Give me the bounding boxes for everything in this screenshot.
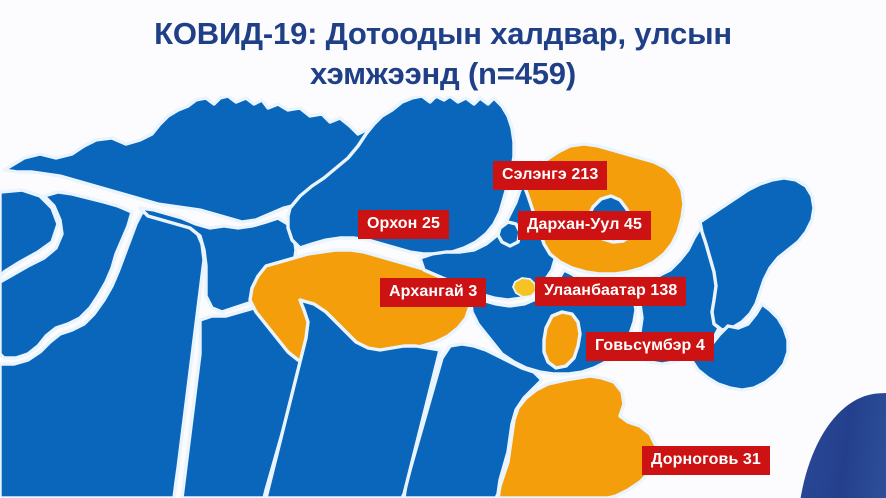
page-title: КОВИД-19: Дотоодын халдвар, улсын хэмжээ… bbox=[0, 14, 886, 94]
map-label-selenge: Сэлэнгэ 213 bbox=[493, 161, 607, 190]
map-label-arkhangai: Архангай 3 bbox=[380, 278, 486, 307]
province-ulaanbaatar bbox=[513, 278, 536, 297]
map-label-dornogovi: Дорноговь 31 bbox=[642, 446, 770, 475]
province-dornod bbox=[700, 178, 814, 330]
province-govisumber bbox=[544, 312, 580, 368]
map-label-orkhon: Орхон 25 bbox=[358, 210, 449, 239]
slide-canvas: КОВИД-19: Дотоодын халдвар, улсын хэмжээ… bbox=[0, 0, 886, 498]
province-orkhon bbox=[498, 222, 520, 246]
map-label-ulaanbaatar: Улаанбаатар 138 bbox=[535, 277, 686, 306]
map-label-govisumber: Говьсүмбэр 4 bbox=[586, 332, 714, 361]
map-label-darkhan-uul: Дархан-Уул 45 bbox=[518, 211, 651, 240]
